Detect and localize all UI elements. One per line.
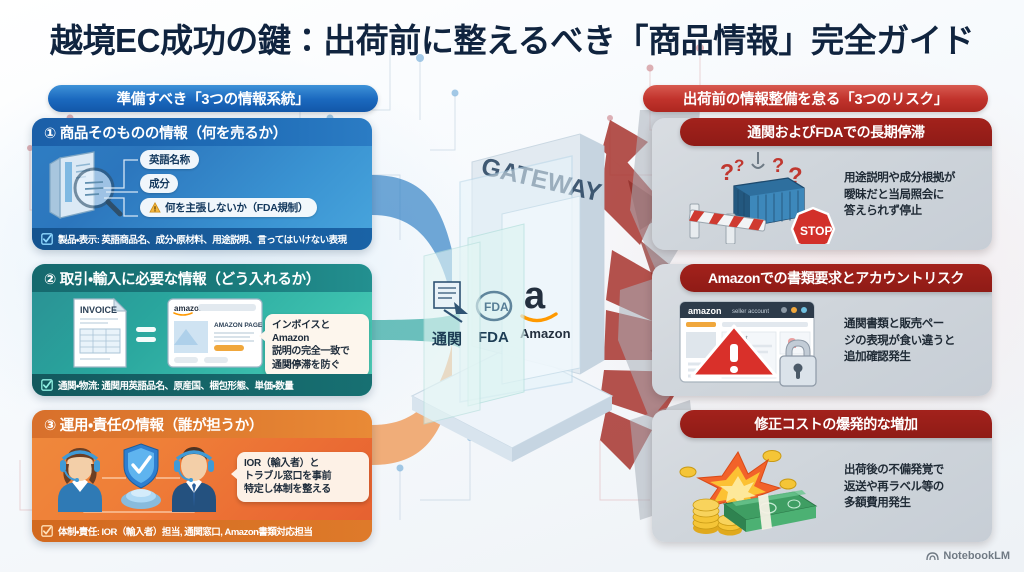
crane-hook-icon [752, 152, 764, 168]
gateway-graphic: GATEWAY a Amazon FDA FDA [372, 96, 652, 476]
risk-card-3-text: 出荷後の不備発覚で 返送や再ラベル等の 多額費用発生 [844, 462, 980, 512]
tag-fda-claims: 何を主張しないか（FDA規制） [140, 198, 317, 217]
svg-text:?: ? [772, 155, 784, 177]
info-card-1-footer: 製品・表示: 英語商品名、成分・原材料、用途説明、言ってはいけない表現 [32, 228, 372, 250]
svg-text:INVOICE: INVOICE [80, 305, 117, 315]
notebooklm-icon [926, 551, 939, 562]
product-attribute-tags: 英語名称 成分 何を主張しないか（FDA規制） [140, 150, 317, 217]
tag-fda-claims-label: 何を主張しないか（FDA規制） [165, 200, 308, 215]
risk-card-customs-delay: 通関およびFDAでの長期停滞 ? ? ? ? [652, 118, 992, 250]
info-card-3-footer-text: 体制・責任: IOR（輸入者）担当, 通関窓口, Amazon書類対応担当 [58, 524, 312, 538]
browser-amazon-label: amazon [688, 306, 722, 316]
info-card-2-footer-text: 通関・物流: 通関用英語品名、原産国、梱包形態、単価・数量 [58, 378, 293, 392]
risk-card-cost-explosion: 修正コストの爆発的な増加 [652, 410, 992, 542]
checkbox-icon [41, 379, 53, 391]
equals-icon [136, 327, 156, 342]
info-card-3-footer: 体制・責任: IOR（輸入者）担当, 通関窓口, Amazon書類対応担当 [32, 520, 372, 542]
invoice-equals-listing-art: INVOICE [46, 295, 266, 373]
svg-text:AMAZON PAGE: AMAZON PAGE [214, 322, 263, 329]
tag-ingredients: 成分 [140, 174, 178, 193]
risk-card-amazon-account: Amazonでの書類要求とアカウントリスク amazon seller acco… [652, 264, 992, 396]
info-card-2-header: ② 取引・輸入に必要な情報（どう入れるか） [32, 264, 372, 292]
gateway-panel-amazon-label: Amazon [520, 326, 571, 341]
gateway-panel-customs: 通関 [424, 242, 480, 424]
browser-seller-label: seller account [732, 309, 769, 315]
customs-delay-art: ? ? ? ? [676, 152, 846, 244]
warning-triangle-icon [149, 202, 161, 213]
info-card-1-header: ① 商品そのものの情報（何を売るか） [32, 118, 372, 146]
checkbox-icon [41, 233, 53, 245]
info-card-1-footer-text: 製品・表示: 英語商品名、成分・原材料、用途説明、言ってはいけない表現 [58, 232, 347, 246]
invoice-document-icon: INVOICE [74, 299, 126, 367]
info-card-3-header: ③ 運用・責任の情報（誰が担うか） [32, 410, 372, 438]
checkbox-icon [41, 525, 53, 537]
risk-card-3-header: 修正コストの爆発的な増加 [680, 410, 992, 438]
stop-sign-label: STOP [800, 224, 832, 238]
responsibility-callout-bubble: IOR（輸入者）と トラブル窓口を事前 特定し体制を整える [237, 452, 369, 502]
info-card-product: ① 商品そのものの情報（何を売るか） [32, 118, 372, 250]
cost-explosion-art [676, 444, 836, 536]
gateway-panel-fda-label: FDA [478, 329, 509, 346]
risk-card-1-header: 通関およびFDAでの長期停滞 [680, 118, 992, 146]
responsibility-team-art [44, 438, 239, 518]
info-card-2-footer: 通関・物流: 通関用英語品名、原産国、梱包形態、単価・数量 [32, 374, 372, 396]
trade-callout-bubble: インボイスとAmazon 説明の完全一致で 通関停滞を防ぐ [265, 314, 369, 377]
left-section-pill: 準備すべき「3つの情報系統」 [48, 85, 378, 112]
svg-text:?: ? [734, 156, 744, 175]
svg-text:?: ? [720, 159, 734, 185]
amazon-listing-icon: amazon AMAZON PAGE [168, 299, 263, 367]
shield-check-icon [121, 444, 161, 509]
amazon-account-risk-art: amazon seller account Account [676, 298, 848, 388]
page-title: 越境EC成功の鍵：出荷前に整えるべき「商品情報」完全ガイド [0, 14, 1024, 62]
notebooklm-watermark-label: NotebookLM [943, 550, 1010, 562]
notebooklm-watermark: NotebookLM [926, 550, 1010, 562]
risk-card-2-header: Amazonでの書類要求とアカウントリスク [680, 264, 992, 292]
stop-sign-icon: STOP [792, 208, 834, 244]
info-card-responsibility: ③ 運用・責任の情報（誰が担うか） [32, 410, 372, 542]
product-box-icon [42, 148, 138, 226]
gateway-panel-customs-label: 通関 [432, 331, 462, 348]
info-card-3-body: IOR（輸入者）と トラブル窓口を事前 特定し体制を整える [32, 438, 372, 520]
amazon-smile-icon: a [524, 275, 546, 317]
support-agent-male-icon [172, 447, 216, 512]
title-container: 越境EC成功の鍵：出荷前に整えるべき「商品情報」完全ガイド [0, 14, 1024, 62]
support-agent-female-icon [58, 448, 102, 512]
tag-english-name: 英語名称 [140, 150, 199, 169]
risk-card-1-text: 用途説明や成分根拠が 曖昧だと当局照会に 答えられず停止 [844, 170, 980, 220]
info-card-trade: ② 取引・輸入に必要な情報（どう入れるか） INVOICE [32, 264, 372, 396]
svg-text:FDA: FDA [484, 300, 509, 314]
infographic-canvas: 越境EC成功の鍵：出荷前に整えるべき「商品情報」完全ガイド 準備すべき「3つの情… [0, 0, 1024, 572]
info-card-2-body: INVOICE [32, 292, 372, 374]
right-section-pill: 出荷前の情報整備を怠る「3つのリスク」 [643, 85, 988, 112]
risk-card-2-text: 通関書類と販売ペー ジの表現が食い違うと 追加確認発生 [844, 316, 980, 366]
info-card-1-body: 英語名称 成分 何を主張しないか（FDA規制） [32, 146, 372, 228]
